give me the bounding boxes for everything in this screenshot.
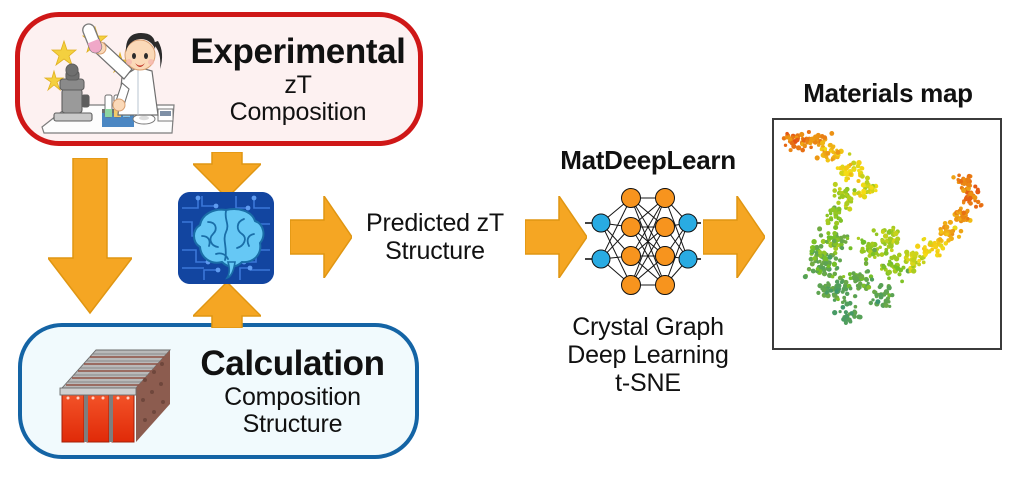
matdeeplearn-title: MatDeepLearn [536,145,760,176]
materials-map-plot [772,118,1002,350]
node-hidden2-1 [656,189,675,208]
node-hidden2-3 [656,247,675,266]
crystal-lattice-illustration [44,330,176,452]
materials-map-title: Materials map [772,78,1004,109]
experimental-subline-2: Composition [184,99,412,126]
node-input-2 [592,250,610,268]
calculation-text-block: Calculation Composition Structure [176,345,415,437]
node-output-1 [679,214,697,232]
experimental-down-left-arrow [48,158,132,318]
experimental-subline-1: zT [184,72,412,99]
method-label: Crystal Graph Deep Learning t-SNE [535,313,761,397]
calculation-title: Calculation [176,345,409,382]
experimental-title: Experimental [184,33,412,70]
experimental-text-block: Experimental zT Composition [184,33,418,125]
node-input-1 [592,214,610,232]
predicted-to-network-arrow [525,196,587,278]
node-hidden1-4 [622,276,641,295]
node-output-2 [679,250,697,268]
calculation-up-to-brain-arrow [193,282,261,328]
scientist-illustration [34,19,184,139]
node-hidden2-4 [656,276,675,295]
brain-chip-icon [178,192,274,284]
calculation-subline-2: Structure [176,411,409,438]
calculation-subline-1: Composition [176,384,409,411]
calculation-stage-box: Calculation Composition Structure [18,323,419,459]
brain-to-predicted-arrow [290,196,352,278]
neural-network-diagram [583,186,701,296]
node-hidden1-3 [622,247,641,266]
predicted-zt-structure-label: Predicted zT Structure [345,209,525,265]
network-to-map-arrow [703,196,765,278]
experimental-stage-box: Experimental zT Composition [15,12,423,146]
node-hidden1-2 [622,218,641,237]
node-hidden2-2 [656,218,675,237]
node-hidden1-1 [622,189,641,208]
